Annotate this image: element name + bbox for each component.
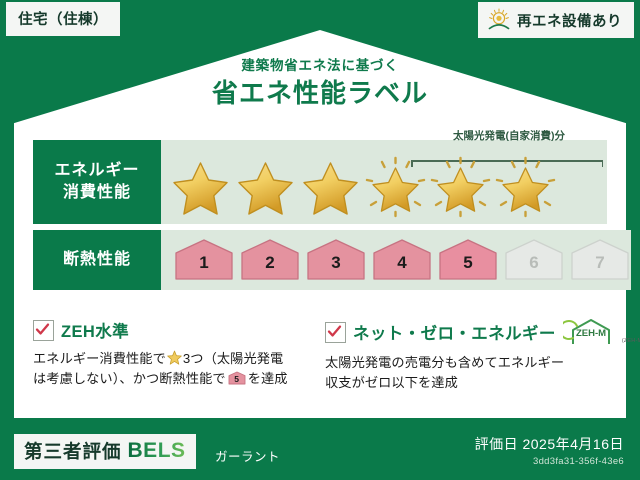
energy-consumption-label: エネルギー 消費性能 (33, 140, 161, 224)
insulation-badge-3: 3 (305, 238, 367, 282)
insulation-badge-value: 6 (503, 254, 565, 271)
building-type-label: 住宅（住棟） (18, 12, 108, 28)
row-energy-consumption: エネルギー 消費性能 太陽光発電(自家消費)分 (33, 140, 607, 224)
evaluation-info: 評価日 2025年4月16日 3dd3fa31-356f-43e6 (475, 436, 624, 467)
title-subtitle: 建築物省エネ法に基づく (0, 58, 640, 74)
insulation-badge-1: 1 (173, 238, 235, 282)
renewable-energy-badge: 再エネ設備あり (478, 2, 634, 38)
insulation-label-line1: 断熱性能 (63, 249, 131, 271)
zeh-title: ZEH水準 (61, 318, 129, 342)
info-sections: ZEH水準 エネルギー消費性能で3つ（太陽光発電 は考慮しない）、かつ断熱性能で… (33, 318, 611, 394)
energy-performance-label: 住宅（住棟） 再エネ設備あり 建築物省エネ法に基づく (0, 0, 640, 480)
bels-jp-label: 第三者評価 (24, 438, 122, 464)
bels-certification: 第三者評価 BELS (14, 434, 196, 469)
insulation-body: 1 2 3 4 5 (161, 230, 631, 290)
energy-label-line2: 消費性能 (63, 182, 131, 204)
energy-consumption-body: 太陽光発電(自家消費)分 (161, 140, 607, 224)
star-solar (429, 156, 492, 218)
insulation-badge-value: 3 (305, 254, 367, 271)
netzero-section: ネット・ゼロ・エネルギー ZEH-M (ZEH-M) 太陽光発電の売電分も含めて… (325, 318, 611, 394)
netzero-description: 太陽光発電の売電分も含めてエネルギー 収支がゼロ以下を達成 (325, 353, 611, 394)
insulation-badge-6: 6 (503, 238, 565, 282)
svg-text:ZEH-M: ZEH-M (576, 328, 606, 339)
zeh-desc-part2: は考慮しない）、かつ断熱性能で (33, 371, 226, 386)
star-solar (364, 156, 427, 218)
insulation-badge-7: 7 (569, 238, 631, 282)
zeh-description: エネルギー消費性能で3つ（太陽光発電 は考慮しない）、かつ断熱性能で5を達成 (33, 349, 311, 390)
insulation-badge-value: 4 (371, 254, 433, 271)
zeh-checkbox[interactable] (33, 320, 54, 341)
zeh-desc-part3: を達成 (248, 371, 288, 386)
evaluation-date: 評価日 2025年4月16日 (475, 436, 624, 453)
zeh-section: ZEH水準 エネルギー消費性能で3つ（太陽光発電 は考慮しない）、かつ断熱性能で… (33, 318, 311, 394)
performance-rows: エネルギー 消費性能 太陽光発電(自家消費)分 (33, 140, 607, 296)
netzero-desc-line2: 収支がゼロ以下を達成 (325, 375, 458, 390)
star-solar (494, 156, 557, 218)
sun-icon (486, 7, 512, 33)
row-insulation: 断熱性能 1 2 3 (33, 230, 607, 290)
insulation-grade-icon: 5 (228, 371, 246, 385)
insulation-badge-value: 1 (173, 254, 235, 271)
solar-caption: 太陽光発電(自家消費)分 (399, 128, 619, 143)
star-filled (234, 156, 297, 218)
insulation-badges: 1 2 3 4 5 (161, 238, 631, 282)
evaluation-id: 3dd3fa31-356f-43e6 (475, 456, 624, 467)
renewable-energy-label: 再エネ設備あり (517, 10, 622, 31)
insulation-badge-2: 2 (239, 238, 301, 282)
energy-label-line1: エネルギー (54, 160, 139, 182)
insulation-badge-5: 5 (437, 238, 499, 282)
bels-en-label: BELS (128, 439, 186, 463)
title-main: 省エネ性能ラベル (0, 77, 640, 110)
zeh-desc-star-count: 3つ（太陽光発電 (183, 351, 283, 366)
page-title: 建築物省エネ法に基づく 省エネ性能ラベル (0, 58, 640, 110)
star-icon (167, 350, 182, 365)
zeh-m-logo-subtext: (ZEH-M) (622, 338, 640, 344)
star-rating (161, 156, 557, 218)
company-name: ガーラント (215, 446, 280, 465)
star-filled (169, 156, 232, 218)
insulation-badge-value: 5 (437, 254, 499, 271)
zeh-heading: ZEH水準 (33, 318, 311, 342)
zeh-desc-part1: エネルギー消費性能で (33, 351, 166, 366)
building-type-tab: 住宅（住棟） (6, 2, 120, 36)
netzero-checkbox[interactable] (325, 322, 346, 343)
insulation-badge-4: 4 (371, 238, 433, 282)
insulation-badge-value: 2 (239, 254, 301, 271)
netzero-desc-line1: 太陽光発電の売電分も含めてエネルギー (325, 355, 564, 370)
insulation-badge-value: 7 (569, 254, 631, 271)
netzero-title: ネット・ゼロ・エネルギー (353, 320, 556, 344)
footer: 第三者評価 BELS ガーラント 評価日 2025年4月16日 3dd3fa31… (0, 424, 640, 480)
zeh-m-logo-icon: ZEH-M (563, 318, 619, 346)
netzero-heading: ネット・ゼロ・エネルギー ZEH-M (ZEH-M) (325, 318, 611, 346)
insulation-label: 断熱性能 (33, 230, 161, 290)
insulation-grade-value: 5 (228, 375, 246, 384)
star-filled (299, 156, 362, 218)
